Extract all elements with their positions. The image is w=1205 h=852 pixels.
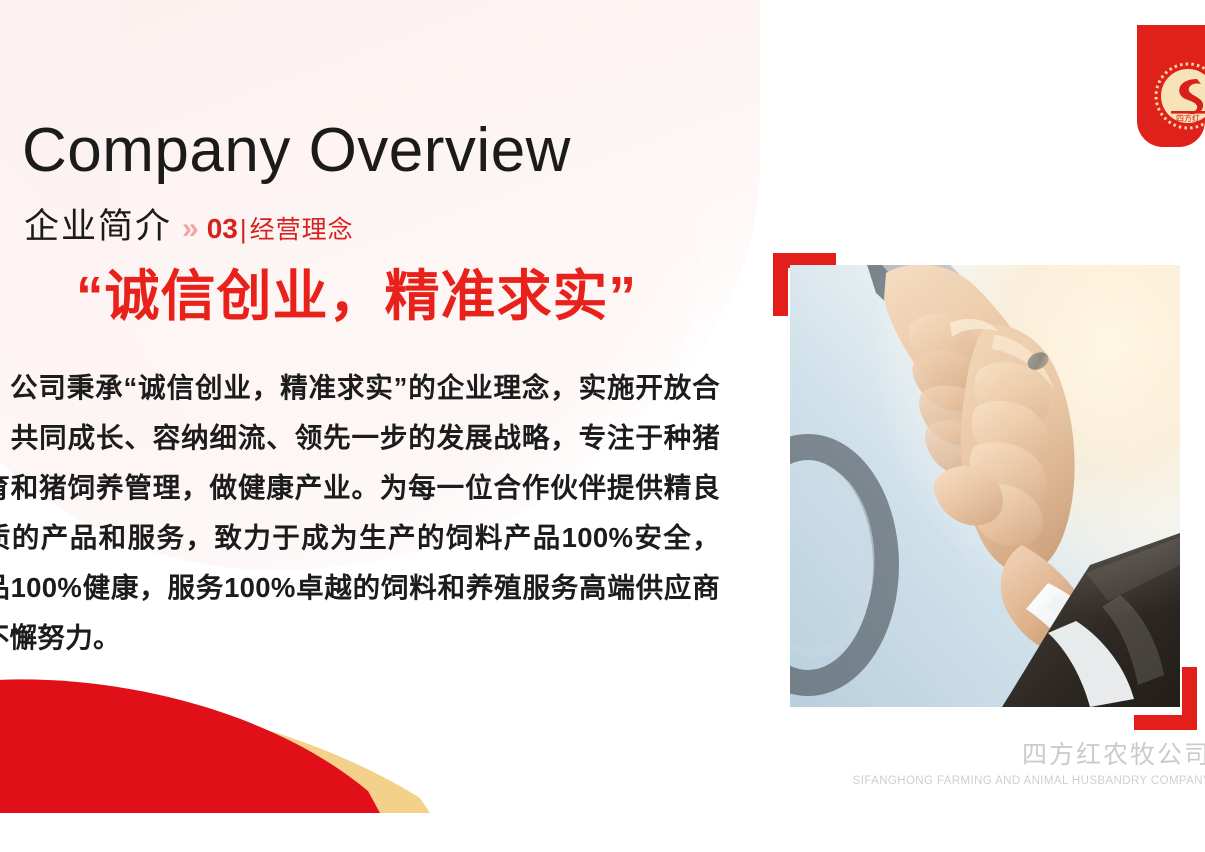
page-title-english: Company Overview <box>22 118 571 183</box>
red-wave-shape <box>0 679 380 813</box>
handshake-photo <box>790 265 1180 707</box>
subtitle-row: 企业简介 » 03 | 经营理念 <box>24 198 354 249</box>
double-chevron-icon: » <box>182 212 197 246</box>
section-divider: | <box>240 214 247 245</box>
gold-wave-shape <box>0 691 430 813</box>
body-paragraph: 公司秉承“诚信创业，精准求实”的企业理念，实施开放合作、共同成长、容纳细流、领先… <box>0 363 720 663</box>
svg-text:四方红: 四方红 <box>1176 113 1200 123</box>
page-title-chinese: 企业简介 <box>24 198 172 249</box>
section-number: 03 <box>207 213 238 245</box>
slide-canvas: 四方红 Company Overview 企业简介 » 03 | 经营理念 “诚… <box>0 0 1205 852</box>
footer-brand: 四方红农牧公司 SIFANGHONG FARMING AND ANIMAL HU… <box>853 742 1205 787</box>
section-label: 经营理念 <box>250 210 354 246</box>
company-slogan: “诚信创业，精准求实” <box>76 266 637 327</box>
sifanghong-seal-icon: 四方红 <box>1153 61 1205 131</box>
footer-company-english: SIFANGHONG FARMING AND ANIMAL HUSBANDRY … <box>853 775 1205 787</box>
footer-company-chinese: 四方红农牧公司 <box>853 742 1205 770</box>
photo-frame <box>773 253 1197 730</box>
company-logo-banner: 四方红 <box>1137 25 1205 147</box>
